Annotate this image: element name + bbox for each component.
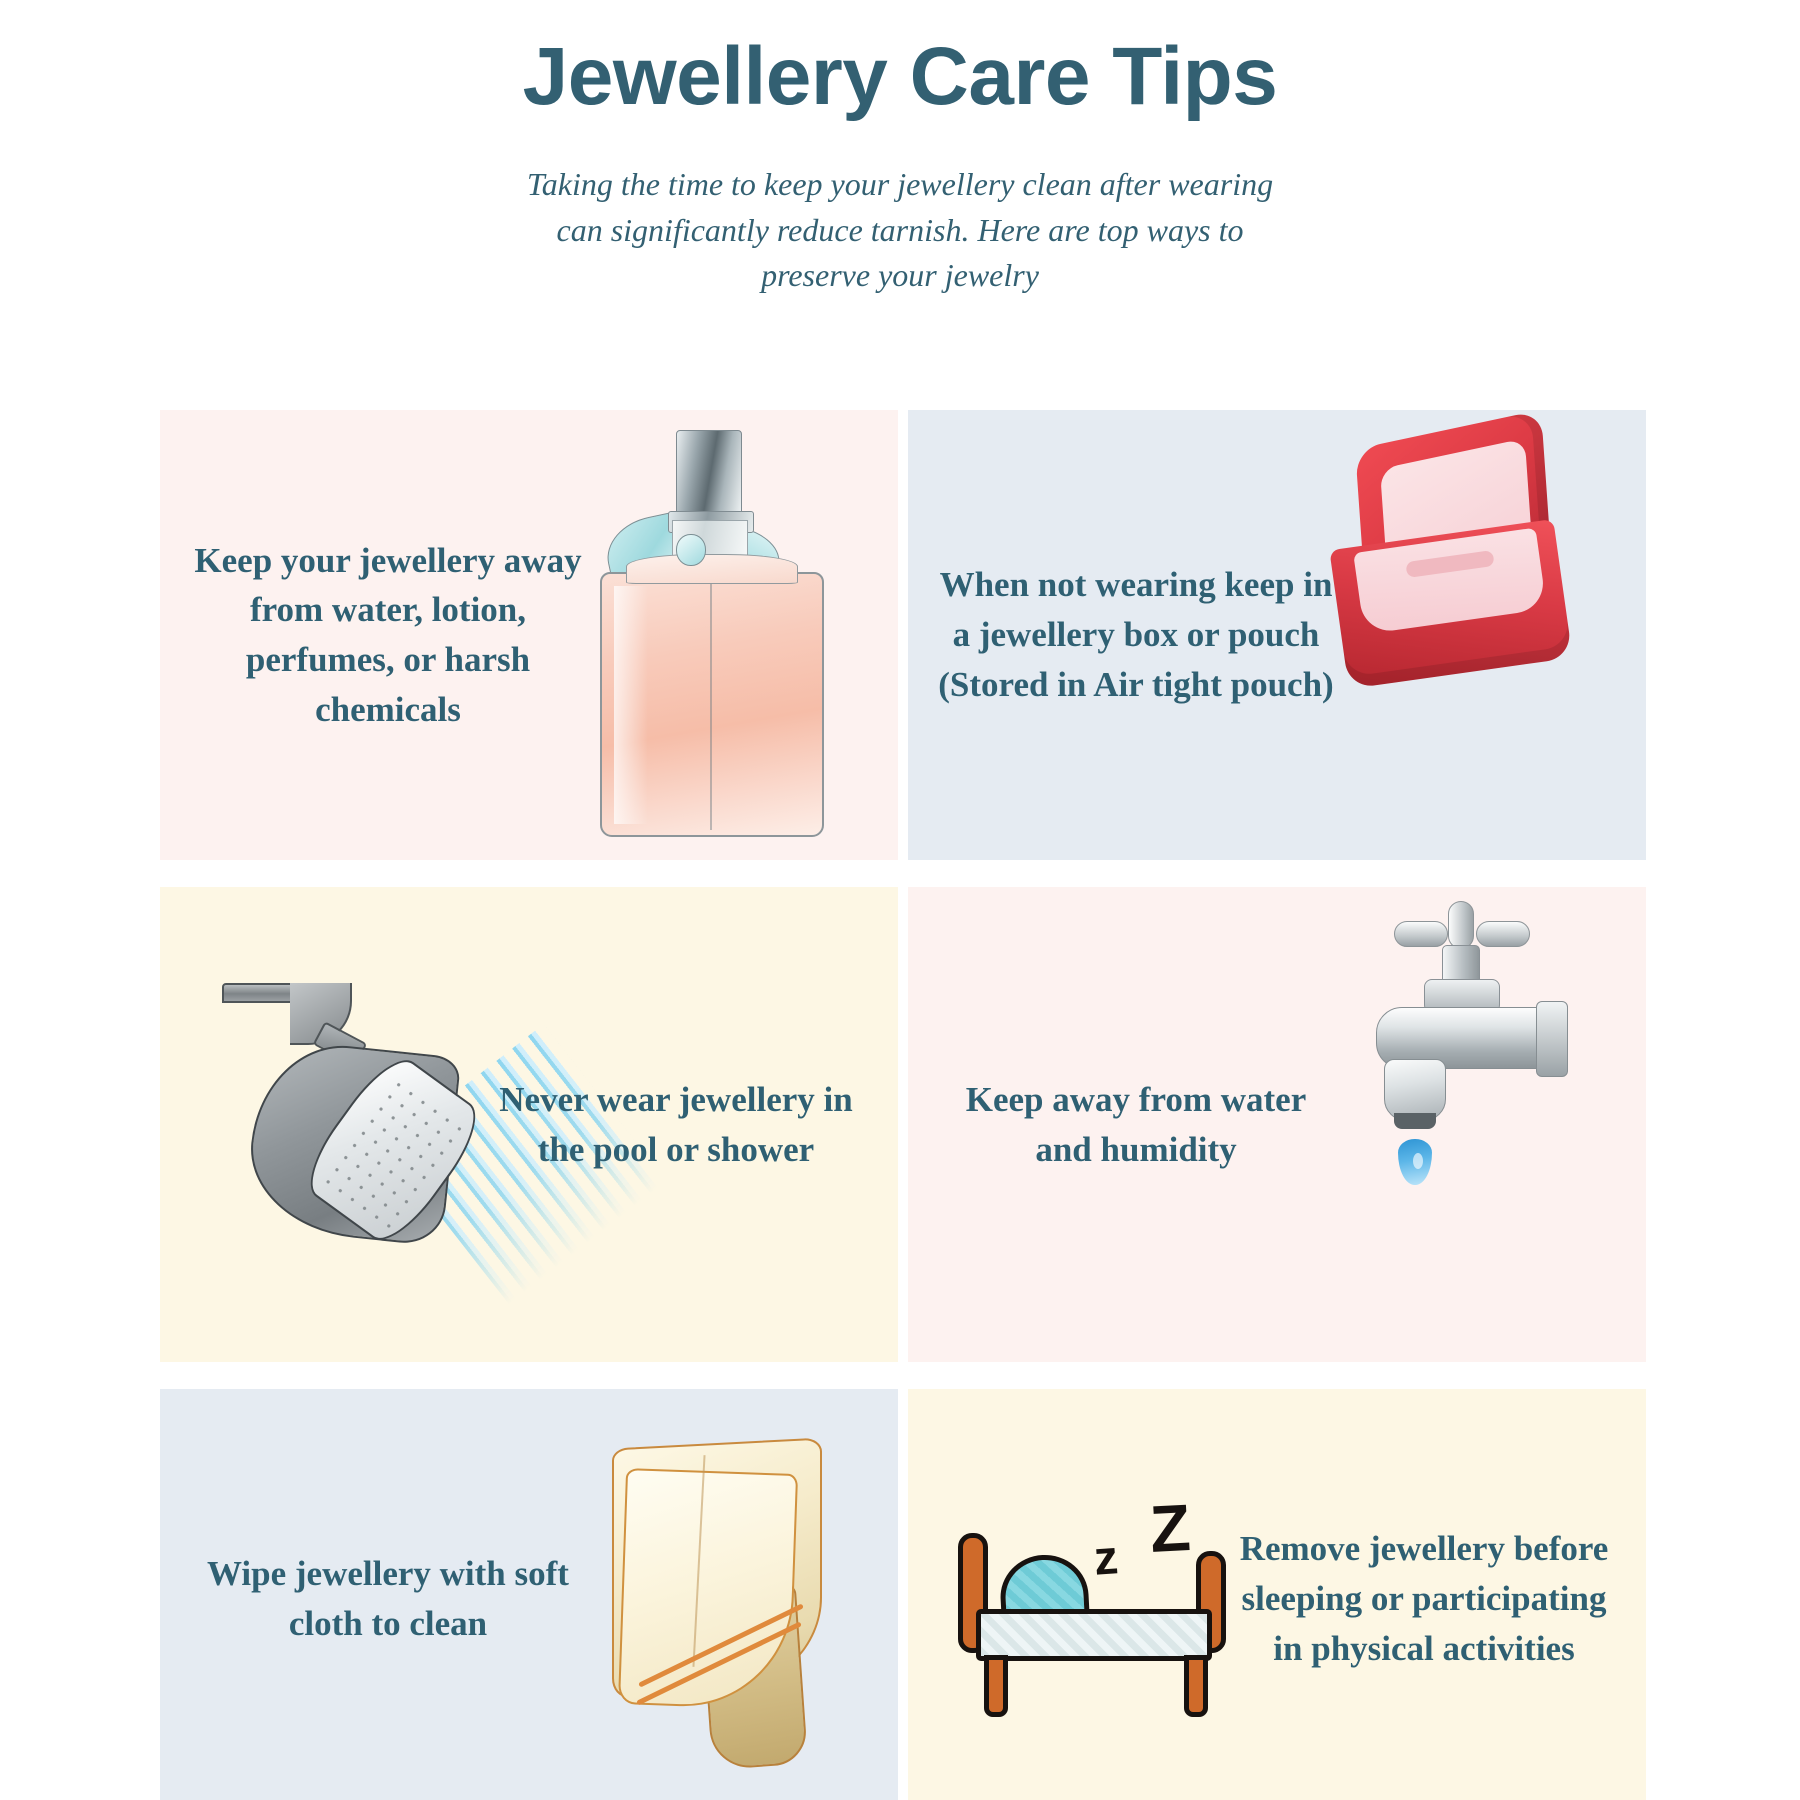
tip-card-humidity: Keep away from water and humidity [908,887,1646,1362]
tip-card-sleep: z z Z Remove jewellery before sleeping o… [908,1389,1646,1800]
tip-card-shower: Never wear jewellery in the pool or show… [160,887,898,1362]
tip-text-chemicals: Keep your jewellery away from water, lot… [188,536,588,735]
tip-text-storage: When not wearing keep in a jewellery box… [936,560,1336,709]
bed-icon: z z Z [948,1499,1248,1739]
tip-text-sleep: Remove jewellery before sleeping or part… [1234,1524,1614,1673]
tip-text-wipe: Wipe jewellery with soft cloth to clean [188,1549,588,1648]
sleep-z-small: z [1054,1568,1073,1601]
perfume-bottle-icon [580,422,840,852]
tip-card-wipe: Wipe jewellery with soft cloth to clean [160,1389,898,1800]
tip-text-shower: Never wear jewellery in the pool or show… [486,1075,866,1174]
faucet-icon [1340,911,1600,1201]
tip-text-humidity: Keep away from water and humidity [936,1075,1336,1174]
tip-card-storage: When not wearing keep in a jewellery box… [908,410,1646,860]
page-title: Jewellery Care Tips [0,30,1800,124]
sleep-z-medium: z [1092,1534,1119,1584]
tip-card-chemicals: Keep your jewellery away from water, lot… [160,410,898,860]
page-subtitle: Taking the time to keep your jewellery c… [500,162,1300,298]
header: Jewellery Care Tips Taking the time to k… [0,0,1800,299]
sleep-z-large: Z [1148,1494,1192,1562]
shower-head-icon [200,959,490,1289]
polishing-cloth-icon [594,1437,844,1767]
ring-box-icon [1320,428,1590,718]
infographic-page: Jewellery Care Tips Taking the time to k… [0,0,1800,1800]
tips-grid: Keep your jewellery away from water, lot… [160,410,1640,1800]
